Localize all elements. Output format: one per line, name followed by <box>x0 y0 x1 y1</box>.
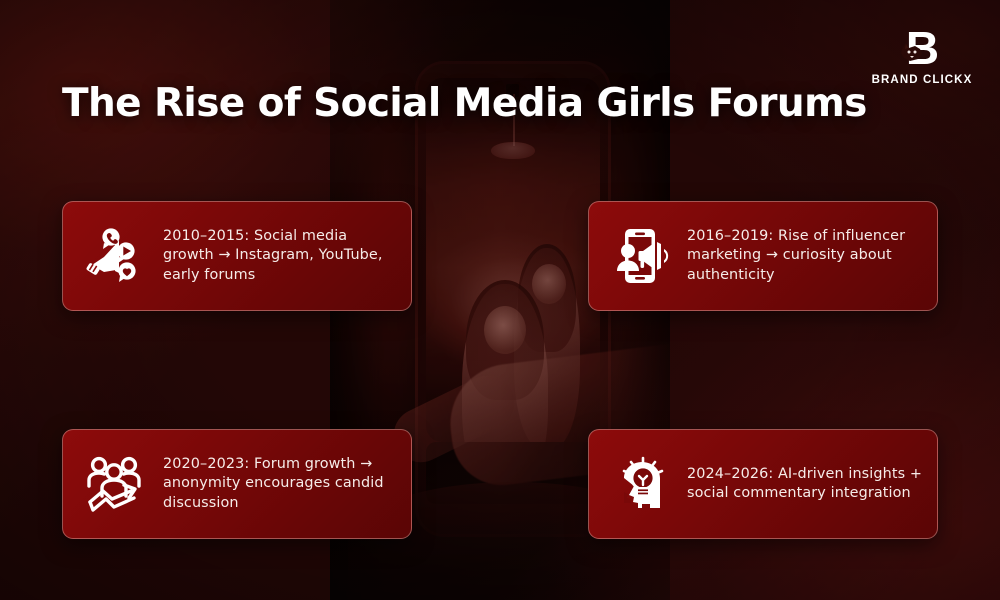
timeline-card-text: 2010–2015: Social media growth → Instagr… <box>153 227 397 286</box>
logo-wordmark: BRAND CLICKX <box>866 74 978 86</box>
timeline-card-2020-2023[interactable]: 2020–2023: Forum growth → anonymity enco… <box>62 429 412 539</box>
smartphone-influencer-megaphone-icon <box>605 219 679 293</box>
timeline-card-2024-2026[interactable]: 2024–2026: AI-driven insights + social c… <box>588 429 938 539</box>
brand-logo[interactable]: B BRAND CLICKX <box>866 26 978 86</box>
head-lightbulb-idea-icon <box>605 447 679 521</box>
infographic-canvas: B BRAND CLICKX The Rise of Social Media … <box>0 0 1000 600</box>
timeline-card-2010-2015[interactable]: 2010–2015: Social media growth → Instagr… <box>62 201 412 311</box>
logo-mark: B <box>899 26 945 70</box>
timeline-card-text: 2016–2019: Rise of influencer marketing … <box>679 227 923 286</box>
timeline-card-text: 2020–2023: Forum growth → anonymity enco… <box>153 455 397 514</box>
panther-head-icon <box>900 40 924 62</box>
timeline-card-2016-2019[interactable]: 2016–2019: Rise of influencer marketing … <box>588 201 938 311</box>
page-title: The Rise of Social Media Girls Forums <box>62 78 867 130</box>
megaphone-social-bubbles-icon <box>79 219 153 293</box>
timeline-card-text: 2024–2026: AI-driven insights + social c… <box>679 465 923 504</box>
people-group-growth-arrow-icon <box>79 447 153 521</box>
